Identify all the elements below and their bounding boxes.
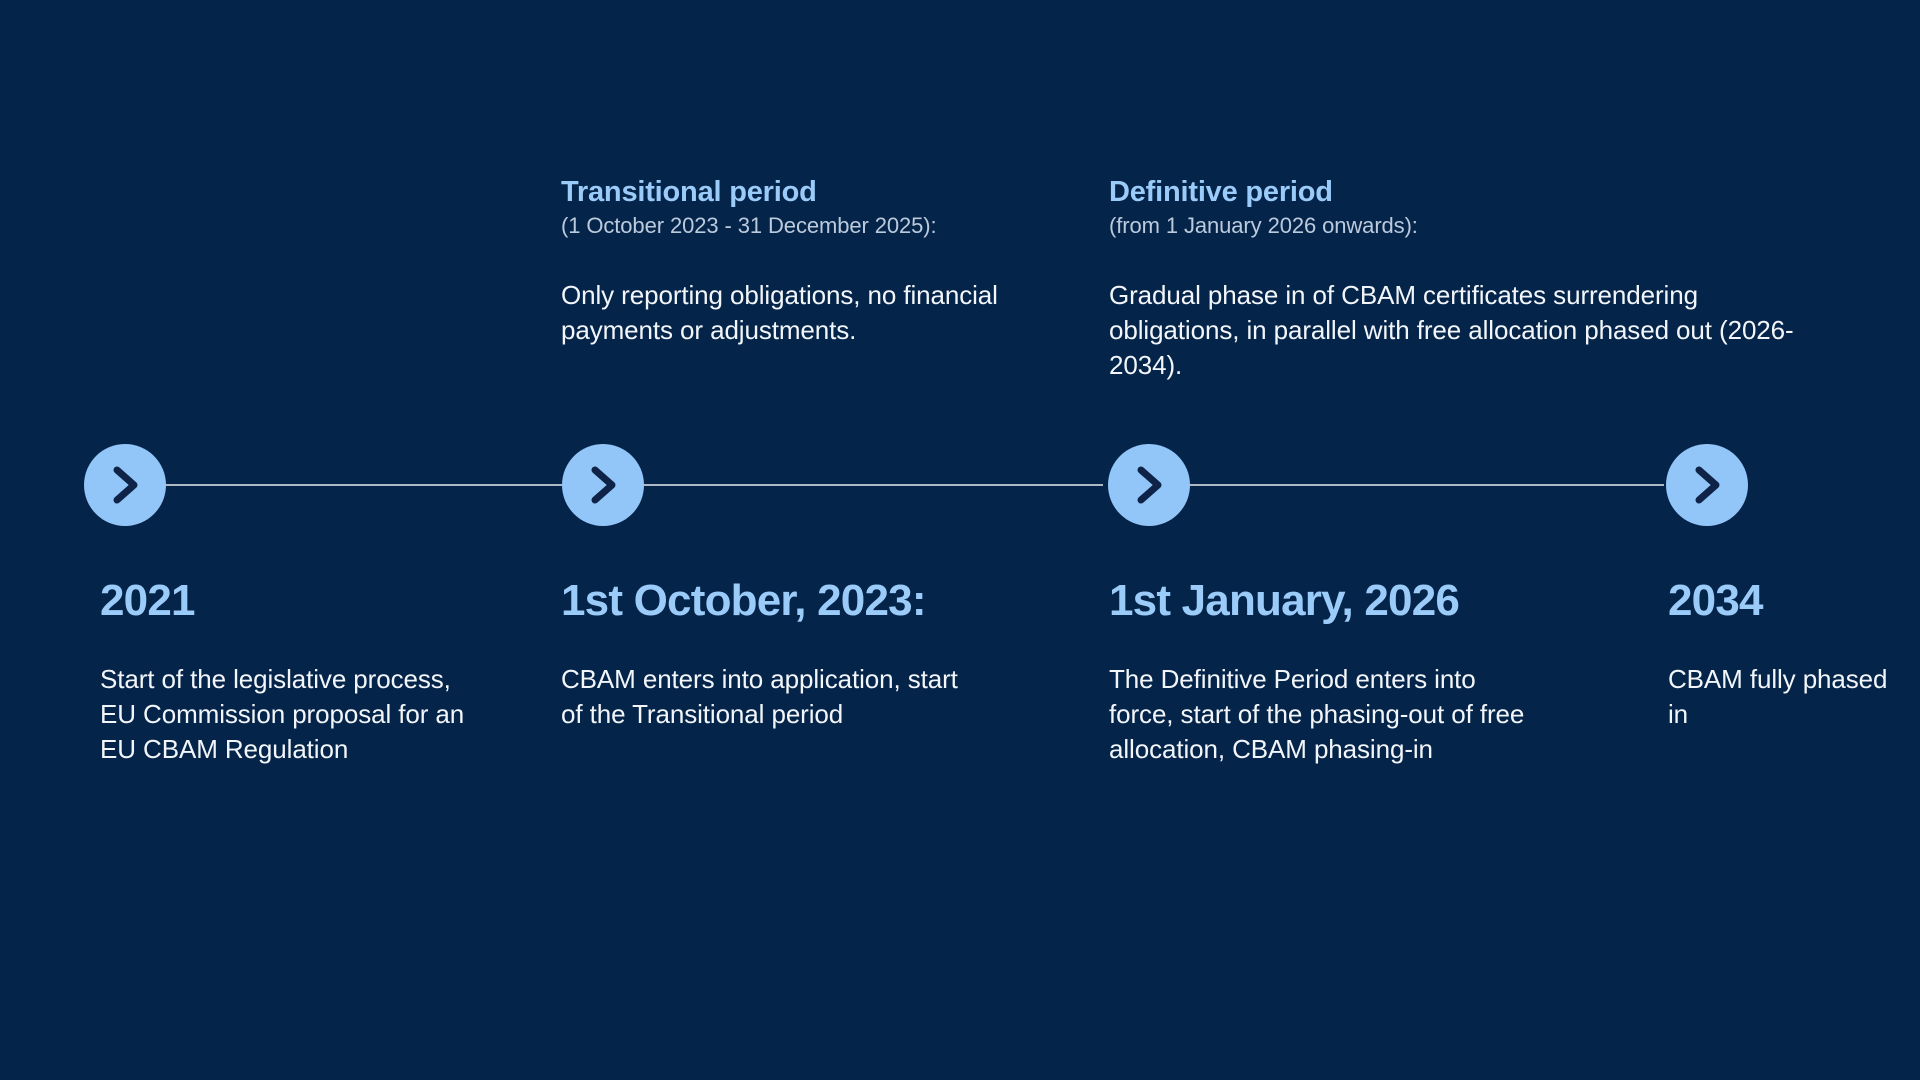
- timeline-axis: [0, 0, 1920, 1080]
- milestone-description: Start of the legislative process, EU Com…: [100, 662, 480, 767]
- callout-subtitle: (1 October 2023 - 31 December 2025):: [561, 213, 1081, 239]
- chevron-right-icon: [1129, 463, 1169, 507]
- chevron-right-icon: [1687, 463, 1727, 507]
- callout-title: Transitional period: [561, 176, 1081, 208]
- milestone-description: CBAM enters into application, start of t…: [561, 662, 981, 732]
- timeline-node-2034: [1666, 444, 1748, 526]
- milestone-2021: 2021 Start of the legislative process, E…: [100, 578, 480, 767]
- callout-body: Gradual phase in of CBAM certificates su…: [1109, 278, 1799, 383]
- timeline-node-2026: [1108, 444, 1190, 526]
- milestone-year: 2021: [100, 578, 480, 624]
- milestone-year: 2034: [1668, 578, 1898, 624]
- milestone-2023: 1st October, 2023: CBAM enters into appl…: [561, 578, 981, 732]
- milestone-2034: 2034 CBAM fully phased in: [1668, 578, 1898, 732]
- timeline-node-2021: [84, 444, 166, 526]
- timeline-connector-line: [643, 484, 1103, 486]
- callout-subtitle: (from 1 January 2026 onwards):: [1109, 213, 1799, 239]
- milestone-description: CBAM fully phased in: [1668, 662, 1898, 732]
- milestone-year: 1st October, 2023:: [561, 578, 981, 624]
- chevron-right-icon: [105, 463, 145, 507]
- timeline-node-2023: [562, 444, 644, 526]
- chevron-right-icon: [583, 463, 623, 507]
- milestone-description: The Definitive Period enters into force,…: [1109, 662, 1529, 767]
- timeline-connector-line: [165, 484, 562, 486]
- timeline-infographic: Transitional period (1 October 2023 - 31…: [0, 0, 1920, 1080]
- milestone-year: 1st January, 2026: [1109, 578, 1529, 624]
- timeline-connector-line: [1189, 484, 1664, 486]
- callout-transitional-period: Transitional period (1 October 2023 - 31…: [561, 176, 1081, 348]
- callout-definitive-period: Definitive period (from 1 January 2026 o…: [1109, 176, 1799, 383]
- callout-body: Only reporting obligations, no financial…: [561, 278, 1081, 348]
- callout-title: Definitive period: [1109, 176, 1799, 208]
- milestone-2026: 1st January, 2026 The Definitive Period …: [1109, 578, 1529, 767]
